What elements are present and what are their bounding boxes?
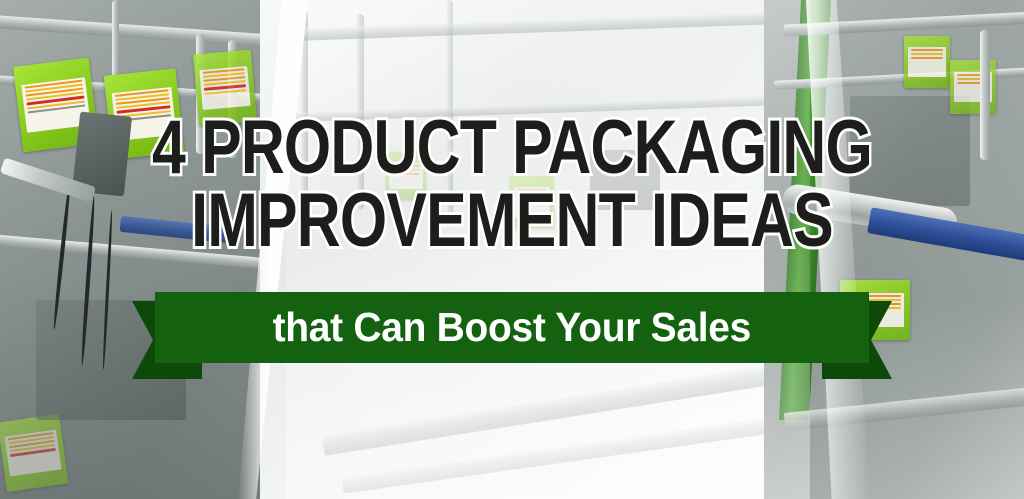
photo-center-machinery xyxy=(260,0,840,499)
subtitle-text: that Can Boost Your Sales xyxy=(273,304,751,351)
photo-right-machinery xyxy=(764,0,1024,499)
product-pouch xyxy=(0,414,69,492)
ribbon-bar: that Can Boost Your Sales xyxy=(155,292,869,363)
promo-banner: 4 PRODUCT PACKAGING IMPROVEMENT IDEAS th… xyxy=(0,0,1024,499)
product-pouch xyxy=(193,50,257,127)
background-photo xyxy=(0,0,1024,499)
subtitle-ribbon: that Can Boost Your Sales xyxy=(0,283,1024,391)
